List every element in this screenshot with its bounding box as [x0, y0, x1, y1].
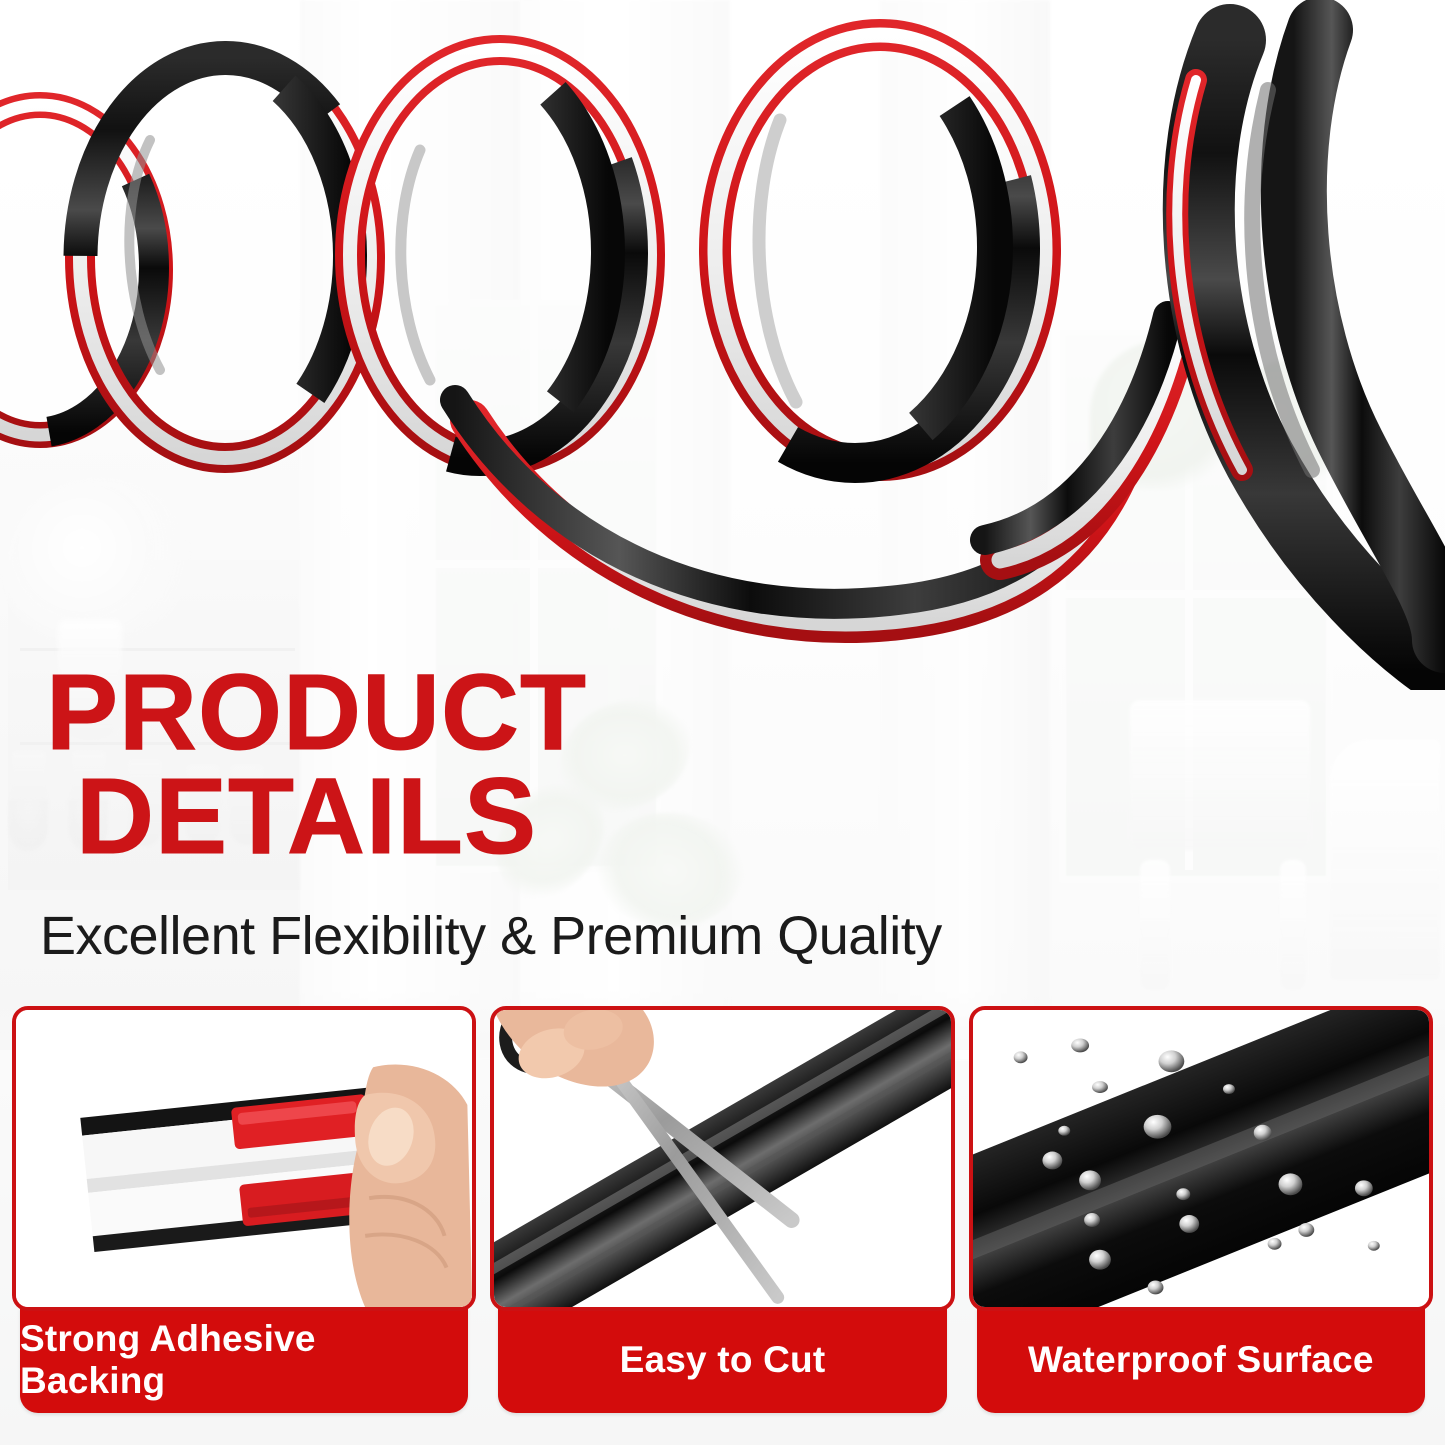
- coil-ring-2: [60, 56, 371, 458]
- hand-icon: [349, 1064, 472, 1307]
- page-subtitle: Excellent Flexibility & Premium Quality: [40, 905, 1240, 967]
- feature-caption: Easy to Cut: [498, 1307, 946, 1413]
- coil-ring-3: [308, 47, 650, 460]
- feature-thumbnail-waterproof: [969, 1006, 1433, 1311]
- feature-panel[interactable]: Easy to Cut: [490, 1006, 954, 1418]
- headline-line-2: DETAILS: [76, 764, 1166, 868]
- coil-ring-right: [1177, 30, 1445, 670]
- feature-panel[interactable]: Strong Adhesive Backing: [12, 1006, 476, 1418]
- feature-panel[interactable]: Waterproof Surface: [969, 1006, 1433, 1418]
- feature-panel-row: Strong Adhesive Backing: [12, 1006, 1433, 1418]
- product-details-image: PRODUCT DETAILS Excellent Flexibility & …: [0, 0, 1445, 1445]
- coiled-tape-illustration: [0, 0, 1445, 690]
- feature-caption: Waterproof Surface: [977, 1307, 1425, 1413]
- feature-caption: Strong Adhesive Backing: [20, 1307, 468, 1413]
- coil-ring-4: [665, 32, 1045, 465]
- page-title: PRODUCT DETAILS: [46, 660, 1166, 867]
- feature-thumbnail-adhesive: [12, 1006, 476, 1311]
- feature-thumbnail-cut: [490, 1006, 954, 1311]
- headline-line-1: PRODUCT: [46, 660, 1166, 764]
